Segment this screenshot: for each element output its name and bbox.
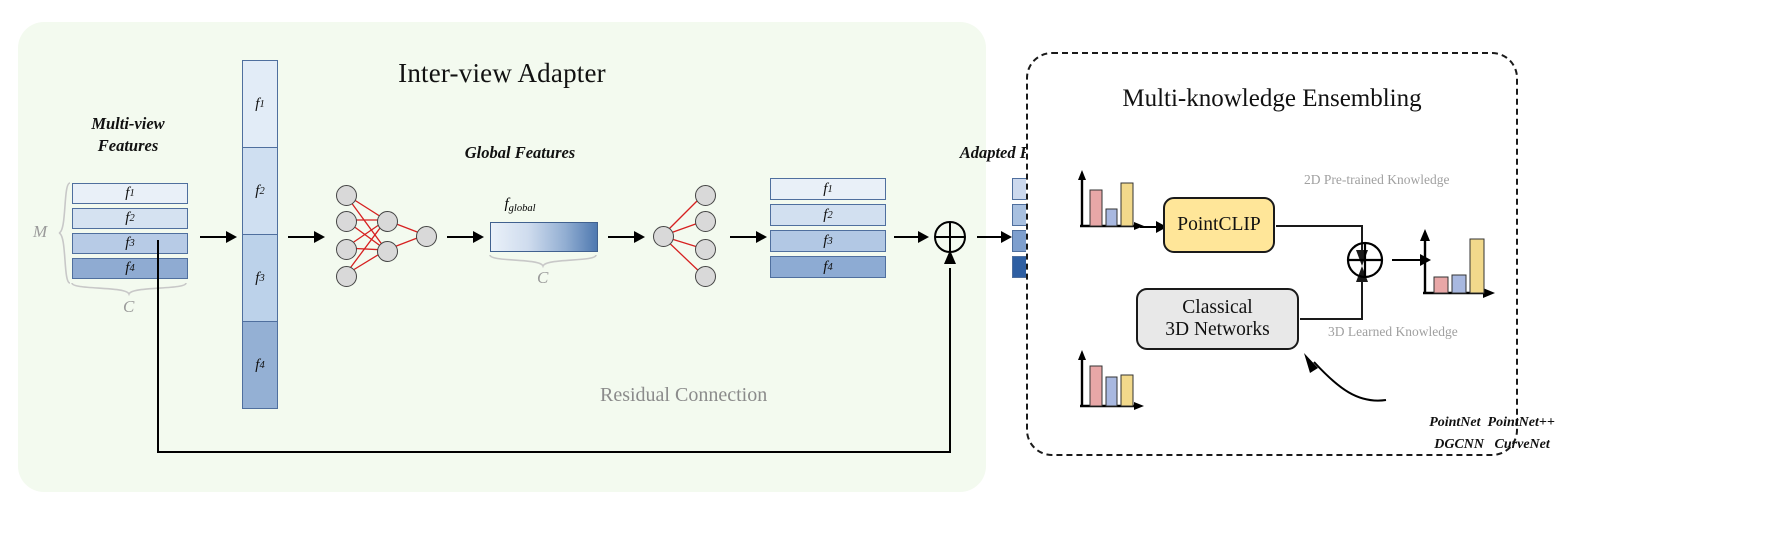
- mlp-hidden-neuron: [377, 211, 398, 232]
- ensembled-output-chart: [1411, 225, 1503, 311]
- global-features-caption: Global Features: [420, 142, 620, 164]
- decoded-feature-block: f1: [770, 178, 886, 200]
- stacked-feature-block: f2: [242, 147, 278, 235]
- label-2d-pretrained-knowledge: 2D Pre-trained Knowledge: [1304, 172, 1449, 188]
- stacked-feature-block: f1: [242, 60, 278, 148]
- label-3d-learned-knowledge: 3D Learned Knowledge: [1328, 324, 1458, 340]
- residual-connection-path: [150, 230, 960, 470]
- mlp-input-neuron: [336, 185, 357, 206]
- brace-m-icon: [56, 181, 72, 285]
- brace-label-m: M: [33, 222, 47, 242]
- decoded-feature-block: f2: [770, 204, 886, 226]
- inter-view-adapter-title: Inter-view Adapter: [18, 58, 986, 89]
- decoder-output-neuron: [695, 185, 716, 206]
- decoder-output-neuron: [695, 211, 716, 232]
- multi-view-features-caption: Multi-view Features: [48, 113, 208, 158]
- multi-view-feature-block: f2: [72, 208, 188, 229]
- network-list-label: PointNet PointNet++ DGCNN CurveNet: [1392, 412, 1592, 455]
- global-feature-label: fglobal: [468, 196, 572, 214]
- multi-knowledge-ensembling-title: Multi-knowledge Ensembling: [1026, 85, 1518, 113]
- residual-connection-label: Residual Connection: [600, 384, 767, 407]
- arrow-networks-to-classical: [1288, 348, 1398, 410]
- classical-3d-networks-box[interactable]: Classical 3D Networks: [1136, 288, 1299, 350]
- multi-view-feature-block: f1: [72, 183, 188, 204]
- ensembling-sum-icon: [1345, 240, 1385, 280]
- pointclip-box[interactable]: PointCLIP: [1163, 197, 1275, 253]
- brace-label-c: C: [123, 297, 134, 317]
- pointclip-input-chart: [1072, 168, 1150, 240]
- classical3d-input-chart: [1072, 348, 1150, 420]
- mlp-input-neuron: [336, 211, 357, 232]
